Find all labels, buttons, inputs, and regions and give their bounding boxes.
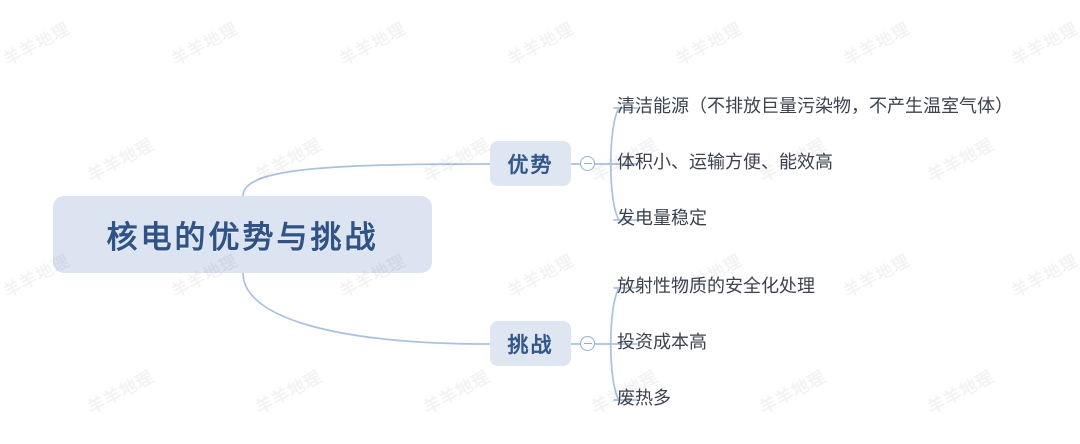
connector-root-to-challenges	[243, 273, 490, 344]
root-node[interactable]: 核电的优势与挑战	[53, 196, 432, 273]
branch-node-advantages-label: 优势	[508, 149, 554, 179]
leaf-challenges-2[interactable]: 投资成本高	[617, 332, 707, 354]
branch-node-challenges[interactable]: 挑战	[490, 321, 571, 366]
connector-root-to-advantages	[243, 164, 490, 196]
circle-minus-icon-advantages[interactable]	[580, 156, 595, 171]
branch-node-advantages[interactable]: 优势	[490, 141, 571, 186]
root-node-label: 核电的优势与挑战	[107, 212, 379, 257]
leaf-challenges-3[interactable]: 废热多	[617, 388, 671, 410]
leaf-advantages-3[interactable]: 发电量稳定	[617, 208, 707, 230]
leaf-advantages-1[interactable]: 清洁能源（不排放巨量污染物，不产生温室气体）	[617, 96, 1013, 118]
branch-node-challenges-label: 挑战	[508, 329, 554, 359]
leaf-advantages-2[interactable]: 体积小、运输方便、能效高	[617, 152, 833, 174]
circle-minus-icon-challenges[interactable]	[580, 336, 595, 351]
leaf-challenges-1[interactable]: 放射性物质的安全化处理	[617, 276, 815, 298]
mindmap-canvas: 核电的优势与挑战 优势 清洁能源（不排放巨量污染物，不产生温室气体） 体积小、运…	[0, 0, 1080, 444]
